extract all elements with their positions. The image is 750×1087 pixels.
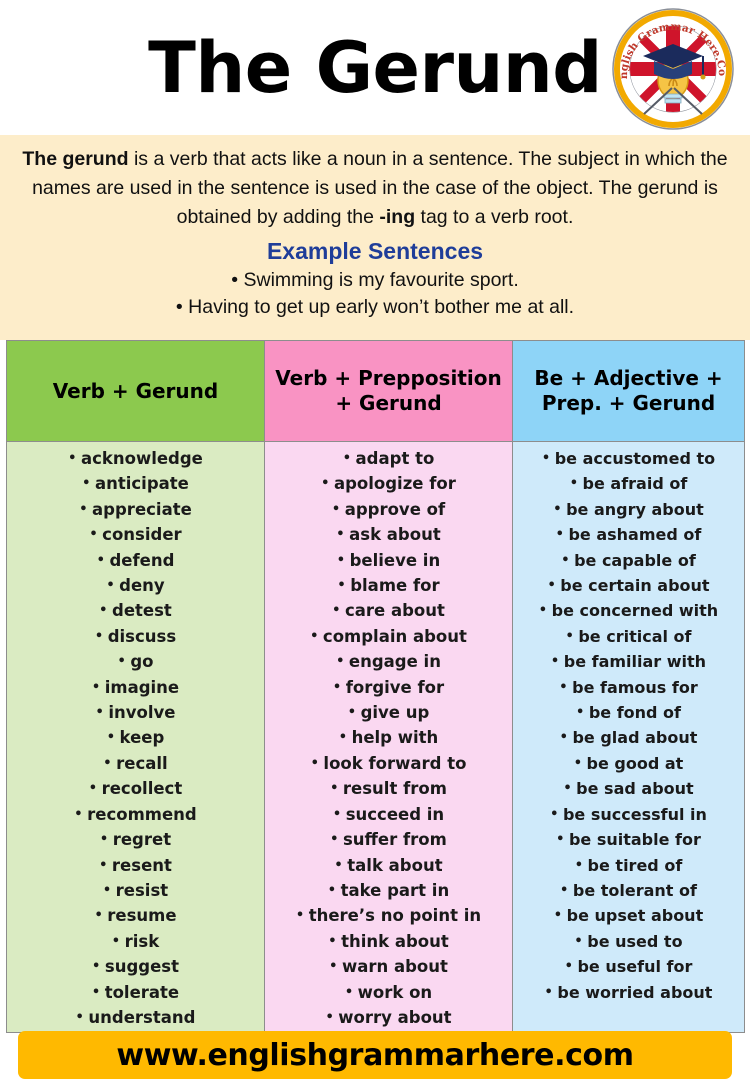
- bullet-glyph: •: [310, 629, 323, 644]
- bullet-glyph: •: [539, 603, 552, 618]
- list-item-label: be capable of: [574, 551, 696, 570]
- list-item-label: understand: [88, 1008, 195, 1027]
- bullet-glyph: •: [96, 705, 109, 720]
- bullet-glyph: •: [328, 883, 341, 898]
- list-item-label: suffer from: [343, 830, 447, 849]
- list-item-label: recollect: [102, 779, 183, 798]
- list-item-label: complain about: [323, 627, 467, 646]
- bullet-glyph: •: [559, 680, 572, 695]
- list-item: • succeed in: [267, 802, 510, 827]
- list-item: • be used to: [515, 929, 742, 954]
- example-sentence-2: • Having to get up early won’t bother me…: [14, 294, 736, 321]
- bullet-glyph: •: [556, 832, 569, 847]
- bullet-glyph: •: [333, 807, 346, 822]
- example-sentence-2-text: Having to get up early won’t bother me a…: [188, 296, 574, 318]
- list-item-label: resist: [116, 881, 169, 900]
- bullet-glyph: •: [343, 451, 356, 466]
- list-item-label: care about: [345, 601, 445, 620]
- list-item-label: help with: [352, 728, 439, 747]
- list-item: • approve of: [267, 497, 510, 522]
- bullet-glyph: •: [311, 756, 324, 771]
- list-item-label: be successful in: [563, 805, 707, 824]
- list-item-label: blame for: [350, 576, 439, 595]
- list-item-label: acknowledge: [81, 449, 203, 468]
- list-item-label: look forward to: [323, 754, 466, 773]
- bullet-glyph: •: [556, 527, 569, 542]
- list-item: • care about: [267, 598, 510, 623]
- bullet-glyph: •: [112, 934, 125, 949]
- list-item: • be tolerant of: [515, 878, 742, 903]
- list-item-label: tolerate: [105, 983, 179, 1002]
- bullet-glyph: •: [547, 578, 560, 593]
- list-item: • give up: [267, 700, 510, 725]
- intro-block: The gerund is a verb that acts like a no…: [0, 135, 750, 340]
- list-item: • be angry about: [515, 497, 742, 522]
- list-item-label: involve: [108, 703, 175, 722]
- bullet-glyph: •: [95, 629, 108, 644]
- list-item-label: be accustomed to: [555, 449, 715, 468]
- list-item-label: consider: [102, 525, 181, 544]
- example-sentences-heading: Example Sentences: [14, 238, 736, 265]
- list-item-label: adapt to: [356, 449, 435, 468]
- bullet-glyph: •: [542, 451, 555, 466]
- bullet-glyph: •: [563, 781, 576, 796]
- list-item: • acknowledge: [9, 446, 262, 471]
- list-item: • be useful for: [515, 954, 742, 979]
- column-cell-verb-preposition-gerund: • adapt to• apologize for• approve of• a…: [265, 442, 513, 1033]
- example-sentence-1-text: Swimming is my favourite sport.: [244, 269, 519, 291]
- list-item-label: be afraid of: [583, 474, 688, 493]
- table-header-row: Verb + Gerund Verb + Prepposition + Geru…: [7, 341, 745, 442]
- bullet-glyph: •: [560, 883, 573, 898]
- list-item-label: work on: [358, 983, 433, 1002]
- list-item: • detest: [9, 598, 262, 623]
- column-header-verb-preposition-gerund: Verb + Prepposition + Gerund: [265, 341, 513, 442]
- list-item-label: be sad about: [576, 779, 694, 798]
- list-item: • be certain about: [515, 573, 742, 598]
- bullet-glyph: •: [296, 908, 309, 923]
- bullet-glyph: •: [106, 578, 119, 593]
- bullet-glyph: •: [574, 756, 587, 771]
- page-header: The Gerund: [0, 0, 750, 135]
- example-sentence-1: • Swimming is my favourite sport.: [14, 267, 736, 294]
- list-item-label: talk about: [347, 856, 442, 875]
- gerund-table-header: Verb + Gerund Verb + Prepposition + Geru…: [7, 341, 745, 442]
- intro-paragraph: The gerund is a verb that acts like a no…: [14, 145, 736, 232]
- list-verb-gerund: • acknowledge• anticipate• appreciate• c…: [9, 446, 262, 1030]
- list-item: • resist: [9, 878, 262, 903]
- bullet-glyph: •: [97, 553, 110, 568]
- list-item: • consider: [9, 522, 262, 547]
- bullet-glyph: •: [336, 654, 349, 669]
- bullet-glyph: •: [329, 959, 342, 974]
- list-item-label: be used to: [587, 932, 682, 951]
- bullet-glyph: •: [339, 730, 352, 745]
- list-item: • imagine: [9, 675, 262, 700]
- list-item: • be glad about: [515, 725, 742, 750]
- bullet-glyph: •: [118, 654, 131, 669]
- column-cell-verb-gerund: • acknowledge• anticipate• appreciate• c…: [7, 442, 265, 1033]
- bullet-glyph: •: [332, 603, 345, 618]
- list-item: • suggest: [9, 954, 262, 979]
- list-item-label: engage in: [349, 652, 441, 671]
- list-item: • engage in: [267, 649, 510, 674]
- bullet-glyph: •: [92, 680, 105, 695]
- list-item: • help with: [267, 725, 510, 750]
- list-item: • be afraid of: [515, 471, 742, 496]
- list-item: • adapt to: [267, 446, 510, 471]
- list-item: • be sad about: [515, 776, 742, 801]
- logo-svg: English Grammar Here.Com: [610, 6, 736, 132]
- gerund-table-body: • acknowledge• anticipate• appreciate• c…: [7, 442, 745, 1033]
- list-item: • apologize for: [267, 471, 510, 496]
- list-item-label: deny: [119, 576, 165, 595]
- bullet-glyph: •: [336, 527, 349, 542]
- list-item-label: succeed in: [346, 805, 444, 824]
- list-item-label: recommend: [87, 805, 197, 824]
- list-item-label: be tolerant of: [573, 881, 697, 900]
- bullet-glyph: •: [345, 985, 358, 1000]
- bullet-glyph: •: [79, 502, 92, 517]
- bullet-glyph: •: [89, 781, 102, 796]
- list-item-label: be fond of: [589, 703, 681, 722]
- list-item: • there’s no point in: [267, 903, 510, 928]
- bullet-glyph: •: [545, 985, 558, 1000]
- list-item: • worry about: [267, 1005, 510, 1030]
- list-item: • involve: [9, 700, 262, 725]
- bullet-glyph: •: [575, 858, 588, 873]
- list-item-label: forgive for: [346, 678, 444, 697]
- bullet-glyph: •: [103, 756, 116, 771]
- gerund-table: Verb + Gerund Verb + Prepposition + Geru…: [6, 340, 745, 1033]
- list-item: • believe in: [267, 548, 510, 573]
- list-item-label: give up: [361, 703, 430, 722]
- list-item: • resent: [9, 853, 262, 878]
- bullet-glyph: •: [565, 959, 578, 974]
- list-item-label: be suitable for: [569, 830, 701, 849]
- list-item: • be tired of: [515, 853, 742, 878]
- list-item-label: regret: [113, 830, 171, 849]
- list-item: • regret: [9, 827, 262, 852]
- list-item-label: keep: [120, 728, 165, 747]
- list-item: • be capable of: [515, 548, 742, 573]
- list-item: • risk: [9, 929, 262, 954]
- bullet-glyph: •: [551, 654, 564, 669]
- list-be-adjective-prep-gerund: • be accustomed to• be afraid of• be ang…: [515, 446, 742, 1005]
- list-item-label: anticipate: [95, 474, 189, 493]
- list-item-label: recall: [116, 754, 168, 773]
- list-item-label: resume: [107, 906, 176, 925]
- list-item-label: defend: [109, 551, 174, 570]
- bullet-glyph: •: [333, 680, 346, 695]
- list-item: • appreciate: [9, 497, 262, 522]
- list-item: • work on: [267, 980, 510, 1005]
- list-item-label: approve of: [345, 500, 445, 519]
- list-item-label: be tired of: [588, 856, 683, 875]
- list-item: • resume: [9, 903, 262, 928]
- list-item-label: detest: [112, 601, 172, 620]
- bullet-glyph: •: [325, 1010, 338, 1025]
- list-item: • be worried about: [515, 980, 742, 1005]
- list-item-label: risk: [125, 932, 160, 951]
- list-item: • think about: [267, 929, 510, 954]
- list-item-label: be familiar with: [564, 652, 706, 671]
- bullet-glyph: •: [92, 959, 105, 974]
- bullet-glyph: •: [100, 832, 113, 847]
- list-item: • recommend: [9, 802, 262, 827]
- list-item: • discuss: [9, 624, 262, 649]
- list-item-label: be famous for: [572, 678, 698, 697]
- list-item-label: be ashamed of: [568, 525, 701, 544]
- list-item: • warn about: [267, 954, 510, 979]
- list-item-label: there’s no point in: [309, 906, 481, 925]
- list-item: • be accustomed to: [515, 446, 742, 471]
- bullet-glyph: •: [330, 781, 343, 796]
- list-item: • be fond of: [515, 700, 742, 725]
- list-item-label: resent: [112, 856, 172, 875]
- bullet-glyph: •: [576, 705, 589, 720]
- bullet-glyph: •: [74, 807, 87, 822]
- list-item-label: worry about: [338, 1008, 451, 1027]
- list-item: • be critical of: [515, 624, 742, 649]
- list-item: • keep: [9, 725, 262, 750]
- list-item: • be good at: [515, 751, 742, 776]
- list-item: • defend: [9, 548, 262, 573]
- bullet-glyph: •: [574, 934, 587, 949]
- bullet-glyph: •: [337, 553, 350, 568]
- list-item-label: be concerned with: [552, 601, 719, 620]
- list-item-label: be critical of: [578, 627, 691, 646]
- list-item: • be ashamed of: [515, 522, 742, 547]
- intro-ing-bold: -ing: [379, 206, 415, 228]
- list-item-label: discuss: [108, 627, 176, 646]
- list-item-label: go: [130, 652, 153, 671]
- list-item: • result from: [267, 776, 510, 801]
- list-item-label: be angry about: [566, 500, 704, 519]
- list-item: • be familiar with: [515, 649, 742, 674]
- list-item-label: suggest: [105, 957, 179, 976]
- list-item: • recollect: [9, 776, 262, 801]
- list-item: • be upset about: [515, 903, 742, 928]
- list-item: • be successful in: [515, 802, 742, 827]
- bullet-glyph: •: [92, 985, 105, 1000]
- list-item: • complain about: [267, 624, 510, 649]
- list-item: • be concerned with: [515, 598, 742, 623]
- bullet-glyph: •: [553, 502, 566, 517]
- list-item: • forgive for: [267, 675, 510, 700]
- bullet-glyph: •: [334, 858, 347, 873]
- list-item: • be suitable for: [515, 827, 742, 852]
- list-item-label: appreciate: [92, 500, 192, 519]
- list-item: • be famous for: [515, 675, 742, 700]
- list-verb-preposition-gerund: • adapt to• apologize for• approve of• a…: [267, 446, 510, 1030]
- english-grammar-here-logo: English Grammar Here.Com: [610, 6, 736, 132]
- bullet-glyph: •: [561, 553, 574, 568]
- bullet-glyph: •: [99, 603, 112, 618]
- column-cell-be-adjective-prep-gerund: • be accustomed to• be afraid of• be ang…: [513, 442, 745, 1033]
- list-item-label: be useful for: [577, 957, 692, 976]
- table-row: • acknowledge• anticipate• appreciate• c…: [7, 442, 745, 1033]
- list-item-label: believe in: [350, 551, 441, 570]
- list-item: • talk about: [267, 853, 510, 878]
- list-item: • deny: [9, 573, 262, 598]
- list-item: • suffer from: [267, 827, 510, 852]
- list-item-label: imagine: [105, 678, 179, 697]
- bullet-glyph: •: [330, 832, 343, 847]
- bullet-glyph: •: [94, 908, 107, 923]
- bullet-glyph: •: [570, 476, 583, 491]
- intro-lead-bold: The gerund: [22, 148, 128, 170]
- list-item-label: warn about: [342, 957, 448, 976]
- gerund-table-wrapper: Verb + Gerund Verb + Prepposition + Geru…: [0, 340, 750, 1033]
- list-item: • go: [9, 649, 262, 674]
- site-url[interactable]: www.englishgrammarhere.com: [116, 1038, 633, 1073]
- list-item: • look forward to: [267, 751, 510, 776]
- bullet-glyph: •: [99, 858, 112, 873]
- list-item-label: be certain about: [560, 576, 709, 595]
- bullet-glyph: •: [89, 527, 102, 542]
- bullet-glyph: •: [82, 476, 95, 491]
- list-item-label: be worried about: [557, 983, 712, 1002]
- column-header-be-adjective-prep-gerund: Be + Adjective + Prep. + Gerund: [513, 341, 745, 442]
- bullet-glyph: •: [550, 807, 563, 822]
- bullet-glyph: •: [566, 629, 579, 644]
- list-item-label: be good at: [587, 754, 684, 773]
- column-header-verb-gerund: Verb + Gerund: [7, 341, 265, 442]
- list-item-label: take part in: [341, 881, 450, 900]
- list-item-label: result from: [343, 779, 447, 798]
- bullet-glyph: •: [103, 883, 116, 898]
- list-item: • take part in: [267, 878, 510, 903]
- list-item-label: be upset about: [567, 906, 704, 925]
- bullet-glyph: •: [560, 730, 573, 745]
- bullet-glyph: •: [68, 451, 81, 466]
- bullet-glyph: •: [107, 730, 120, 745]
- bullet-glyph: •: [176, 296, 183, 318]
- list-item-label: apologize for: [334, 474, 456, 493]
- bullet-glyph: •: [332, 502, 345, 517]
- bullet-glyph: •: [328, 934, 341, 949]
- list-item: • recall: [9, 751, 262, 776]
- bullet-glyph: •: [231, 269, 238, 291]
- list-item-label: ask about: [349, 525, 441, 544]
- list-item: • blame for: [267, 573, 510, 598]
- intro-tail-text: tag to a verb root.: [415, 206, 573, 228]
- list-item-label: think about: [341, 932, 449, 951]
- list-item: • ask about: [267, 522, 510, 547]
- list-item: • tolerate: [9, 980, 262, 1005]
- bullet-glyph: •: [337, 578, 350, 593]
- bullet-glyph: •: [321, 476, 334, 491]
- list-item: • anticipate: [9, 471, 262, 496]
- site-footer-banner[interactable]: www.englishgrammarhere.com: [18, 1031, 732, 1079]
- bullet-glyph: •: [554, 908, 567, 923]
- bullet-glyph: •: [348, 705, 361, 720]
- list-item-label: be glad about: [572, 728, 697, 747]
- bullet-glyph: •: [76, 1010, 89, 1025]
- list-item: • understand: [9, 1005, 262, 1030]
